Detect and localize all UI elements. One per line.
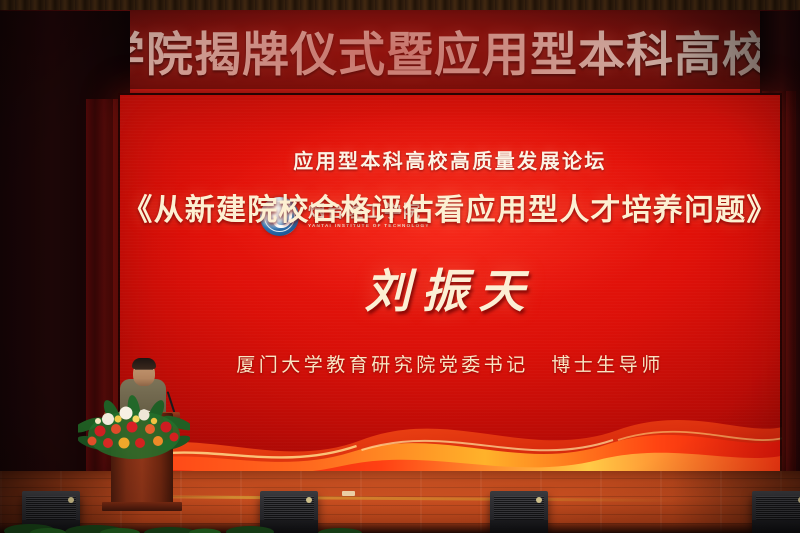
monitor-base xyxy=(490,520,548,533)
led-screen-frame xyxy=(118,93,782,482)
led-backdrop-screen: 烟台理工学院 YANTAI INSTITUTE OF TECHNOLOGY 应用… xyxy=(118,93,782,482)
monitor-base xyxy=(260,520,318,533)
auditorium-scene: 台理工学院揭牌仪式暨应用型本科高校高质量发 xyxy=(0,0,800,533)
podium-base xyxy=(102,502,182,511)
floor-monitor-center-right xyxy=(490,491,548,533)
floor-monitor-center-left xyxy=(260,491,318,533)
monitor-badge-icon xyxy=(306,497,312,503)
floor-monitor-right xyxy=(752,491,800,533)
podium-group xyxy=(78,355,210,505)
monitor-grille xyxy=(756,496,800,520)
floral-arrangement xyxy=(78,385,190,459)
presenter-glasses xyxy=(135,369,153,375)
monitor-base xyxy=(752,520,800,533)
monitor-badge-icon xyxy=(68,497,74,503)
stage-front-edge xyxy=(0,523,800,533)
monitor-badge-icon xyxy=(536,497,542,503)
monitor-base xyxy=(22,520,80,533)
presenter-hair xyxy=(132,358,156,369)
floor-monitor-left xyxy=(22,491,80,533)
